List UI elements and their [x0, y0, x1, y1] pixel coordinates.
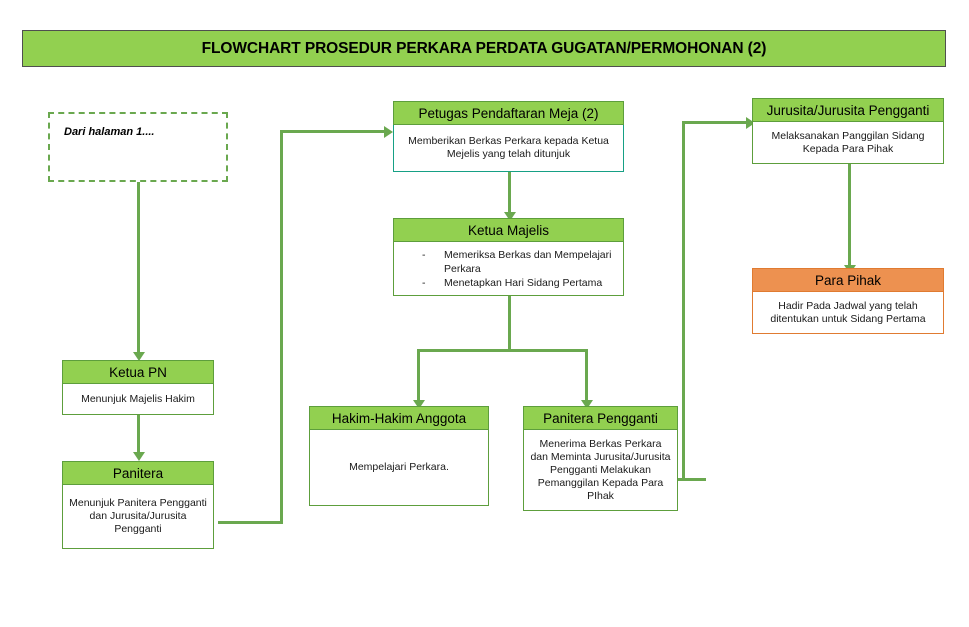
- node-hakim-anggota-body: Mempelajari Perkara.: [309, 430, 489, 506]
- connector-panitera-up-segment: [280, 130, 283, 524]
- node-petugas-body: Memberikan Berkas Perkara kepada Ketua M…: [393, 125, 624, 172]
- arrowhead-ketuapn-to-panitera: [133, 452, 145, 461]
- node-hakim-hakim-anggota[interactable]: Hakim-Hakim Anggota Mempelajari Perkara.: [309, 406, 489, 506]
- connector-panitera-to-petugas-segment: [280, 130, 385, 133]
- node-panitera-body: Menunjuk Panitera Pengganti dan Jurusita…: [62, 485, 214, 549]
- connector-jurusita-to-parapihak: [848, 164, 851, 268]
- connector-petugas-to-ketuamajelis: [508, 172, 511, 214]
- node-jurusita-body: Melaksanakan Panggilan Sidang Kepada Par…: [752, 122, 944, 164]
- node-petugas-header: Petugas Pendaftaran Meja (2): [393, 101, 624, 125]
- connector-offpage-to-ketuapn: [137, 182, 140, 354]
- node-petugas-pendaftaran-meja[interactable]: Petugas Pendaftaran Meja (2) Memberikan …: [393, 101, 624, 172]
- list-item: - Memeriksa Berkas dan Mempelajari Perka…: [404, 248, 615, 276]
- bullet-dash: -: [422, 248, 426, 262]
- connector-to-hakim-anggota: [417, 349, 420, 402]
- node-ketua-pn-body: Menunjuk Majelis Hakim: [62, 384, 214, 415]
- node-ketua-pn-header: Ketua PN: [62, 360, 214, 384]
- list-item: - Menetapkan Hari Sidang Pertama: [404, 276, 615, 290]
- ketua-majelis-task-list: - Memeriksa Berkas dan Mempelajari Perka…: [404, 248, 615, 290]
- node-jurusita-pengganti[interactable]: Jurusita/Jurusita Pengganti Melaksanakan…: [752, 98, 944, 164]
- connector-to-panitera-pengganti: [585, 349, 588, 402]
- connector-paniterapengganti-up-segment: [682, 121, 685, 481]
- node-para-pihak[interactable]: Para Pihak Hadir Pada Jadwal yang telah …: [752, 268, 944, 334]
- node-ketua-majelis-header: Ketua Majelis: [393, 218, 624, 242]
- connector-ketuapn-to-panitera: [137, 415, 140, 453]
- node-ketua-majelis[interactable]: Ketua Majelis - Memeriksa Berkas dan Mem…: [393, 218, 624, 296]
- node-para-pihak-body: Hadir Pada Jadwal yang telah ditentukan …: [752, 292, 944, 334]
- connector-ketuamajelis-split-bar: [417, 349, 588, 352]
- node-ketua-pn[interactable]: Ketua PN Menunjuk Majelis Hakim: [62, 360, 214, 415]
- arrowhead-panitera-to-petugas: [384, 126, 393, 138]
- connector-paniterapengganti-to-jurusita-segment: [682, 121, 748, 124]
- connector-ketuamajelis-down-stem: [508, 295, 511, 352]
- node-panitera-header: Panitera: [62, 461, 214, 485]
- node-panitera-pengganti[interactable]: Panitera Pengganti Menerima Berkas Perka…: [523, 406, 678, 511]
- node-hakim-anggota-header: Hakim-Hakim Anggota: [309, 406, 489, 430]
- list-item-label: Memeriksa Berkas dan Mempelajari Perkara: [444, 249, 611, 275]
- bullet-dash: -: [422, 276, 426, 290]
- connector-panitera-right-segment: [218, 521, 283, 524]
- node-panitera-pengganti-header: Panitera Pengganti: [523, 406, 678, 430]
- flowchart-title-banner: FLOWCHART PROSEDUR PERKARA PERDATA GUGAT…: [22, 30, 946, 67]
- list-item-label: Menetapkan Hari Sidang Pertama: [444, 277, 602, 289]
- node-para-pihak-header: Para Pihak: [752, 268, 944, 292]
- offpage-reference-label: Dari halaman 1....: [64, 126, 154, 138]
- page-title: FLOWCHART PROSEDUR PERKARA PERDATA GUGAT…: [202, 40, 767, 58]
- flowchart-canvas: FLOWCHART PROSEDUR PERKARA PERDATA GUGAT…: [0, 0, 969, 627]
- offpage-reference-box: Dari halaman 1....: [48, 112, 228, 182]
- node-panitera-pengganti-body: Menerima Berkas Perkara dan Meminta Juru…: [523, 430, 678, 511]
- node-panitera[interactable]: Panitera Menunjuk Panitera Pengganti dan…: [62, 461, 214, 549]
- node-ketua-majelis-body: - Memeriksa Berkas dan Mempelajari Perka…: [393, 242, 624, 296]
- node-jurusita-header: Jurusita/Jurusita Pengganti: [752, 98, 944, 122]
